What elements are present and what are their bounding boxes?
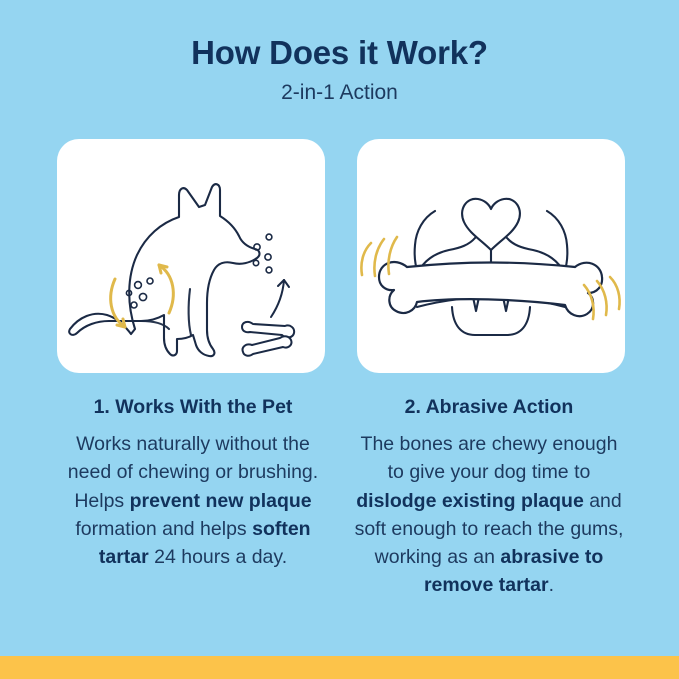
column-body-2: The bones are chewy enough to give your …	[353, 430, 625, 598]
dog-front-leg-line	[189, 289, 191, 335]
sitting-dog-with-plaque-cycle-illustration	[57, 139, 325, 373]
column-body-1: Works naturally without the need of chew…	[57, 430, 329, 570]
upward-arrow	[271, 280, 289, 317]
card-works-with-the-pet	[57, 139, 325, 373]
description-columns: 1. Works With the Pet Works naturally wi…	[57, 396, 625, 599]
infographic-root: How Does it Work? 2-in-1 Action	[0, 0, 679, 679]
column-heading-1: 1. Works With the Pet	[57, 396, 329, 419]
header: How Does it Work? 2-in-1 Action	[0, 34, 679, 105]
bottom-accent-strip	[0, 656, 679, 679]
column-abrasive-action: 2. Abrasive Action The bones are chewy e…	[353, 396, 625, 599]
illustration-cards	[57, 139, 625, 373]
page-title: How Does it Work?	[0, 34, 679, 72]
column-heading-2: 2. Abrasive Action	[353, 396, 625, 419]
chew-bone	[379, 262, 602, 316]
crossed-bones	[242, 322, 294, 356]
card-abrasive-action	[357, 139, 625, 373]
tongue	[452, 307, 530, 335]
dog-mouth-chewing-bone-illustration	[357, 139, 625, 373]
plaque-bubbles-rising	[253, 234, 272, 273]
page-subtitle: 2-in-1 Action	[0, 81, 679, 105]
column-works-with-the-pet: 1. Works With the Pet Works naturally wi…	[57, 396, 329, 599]
